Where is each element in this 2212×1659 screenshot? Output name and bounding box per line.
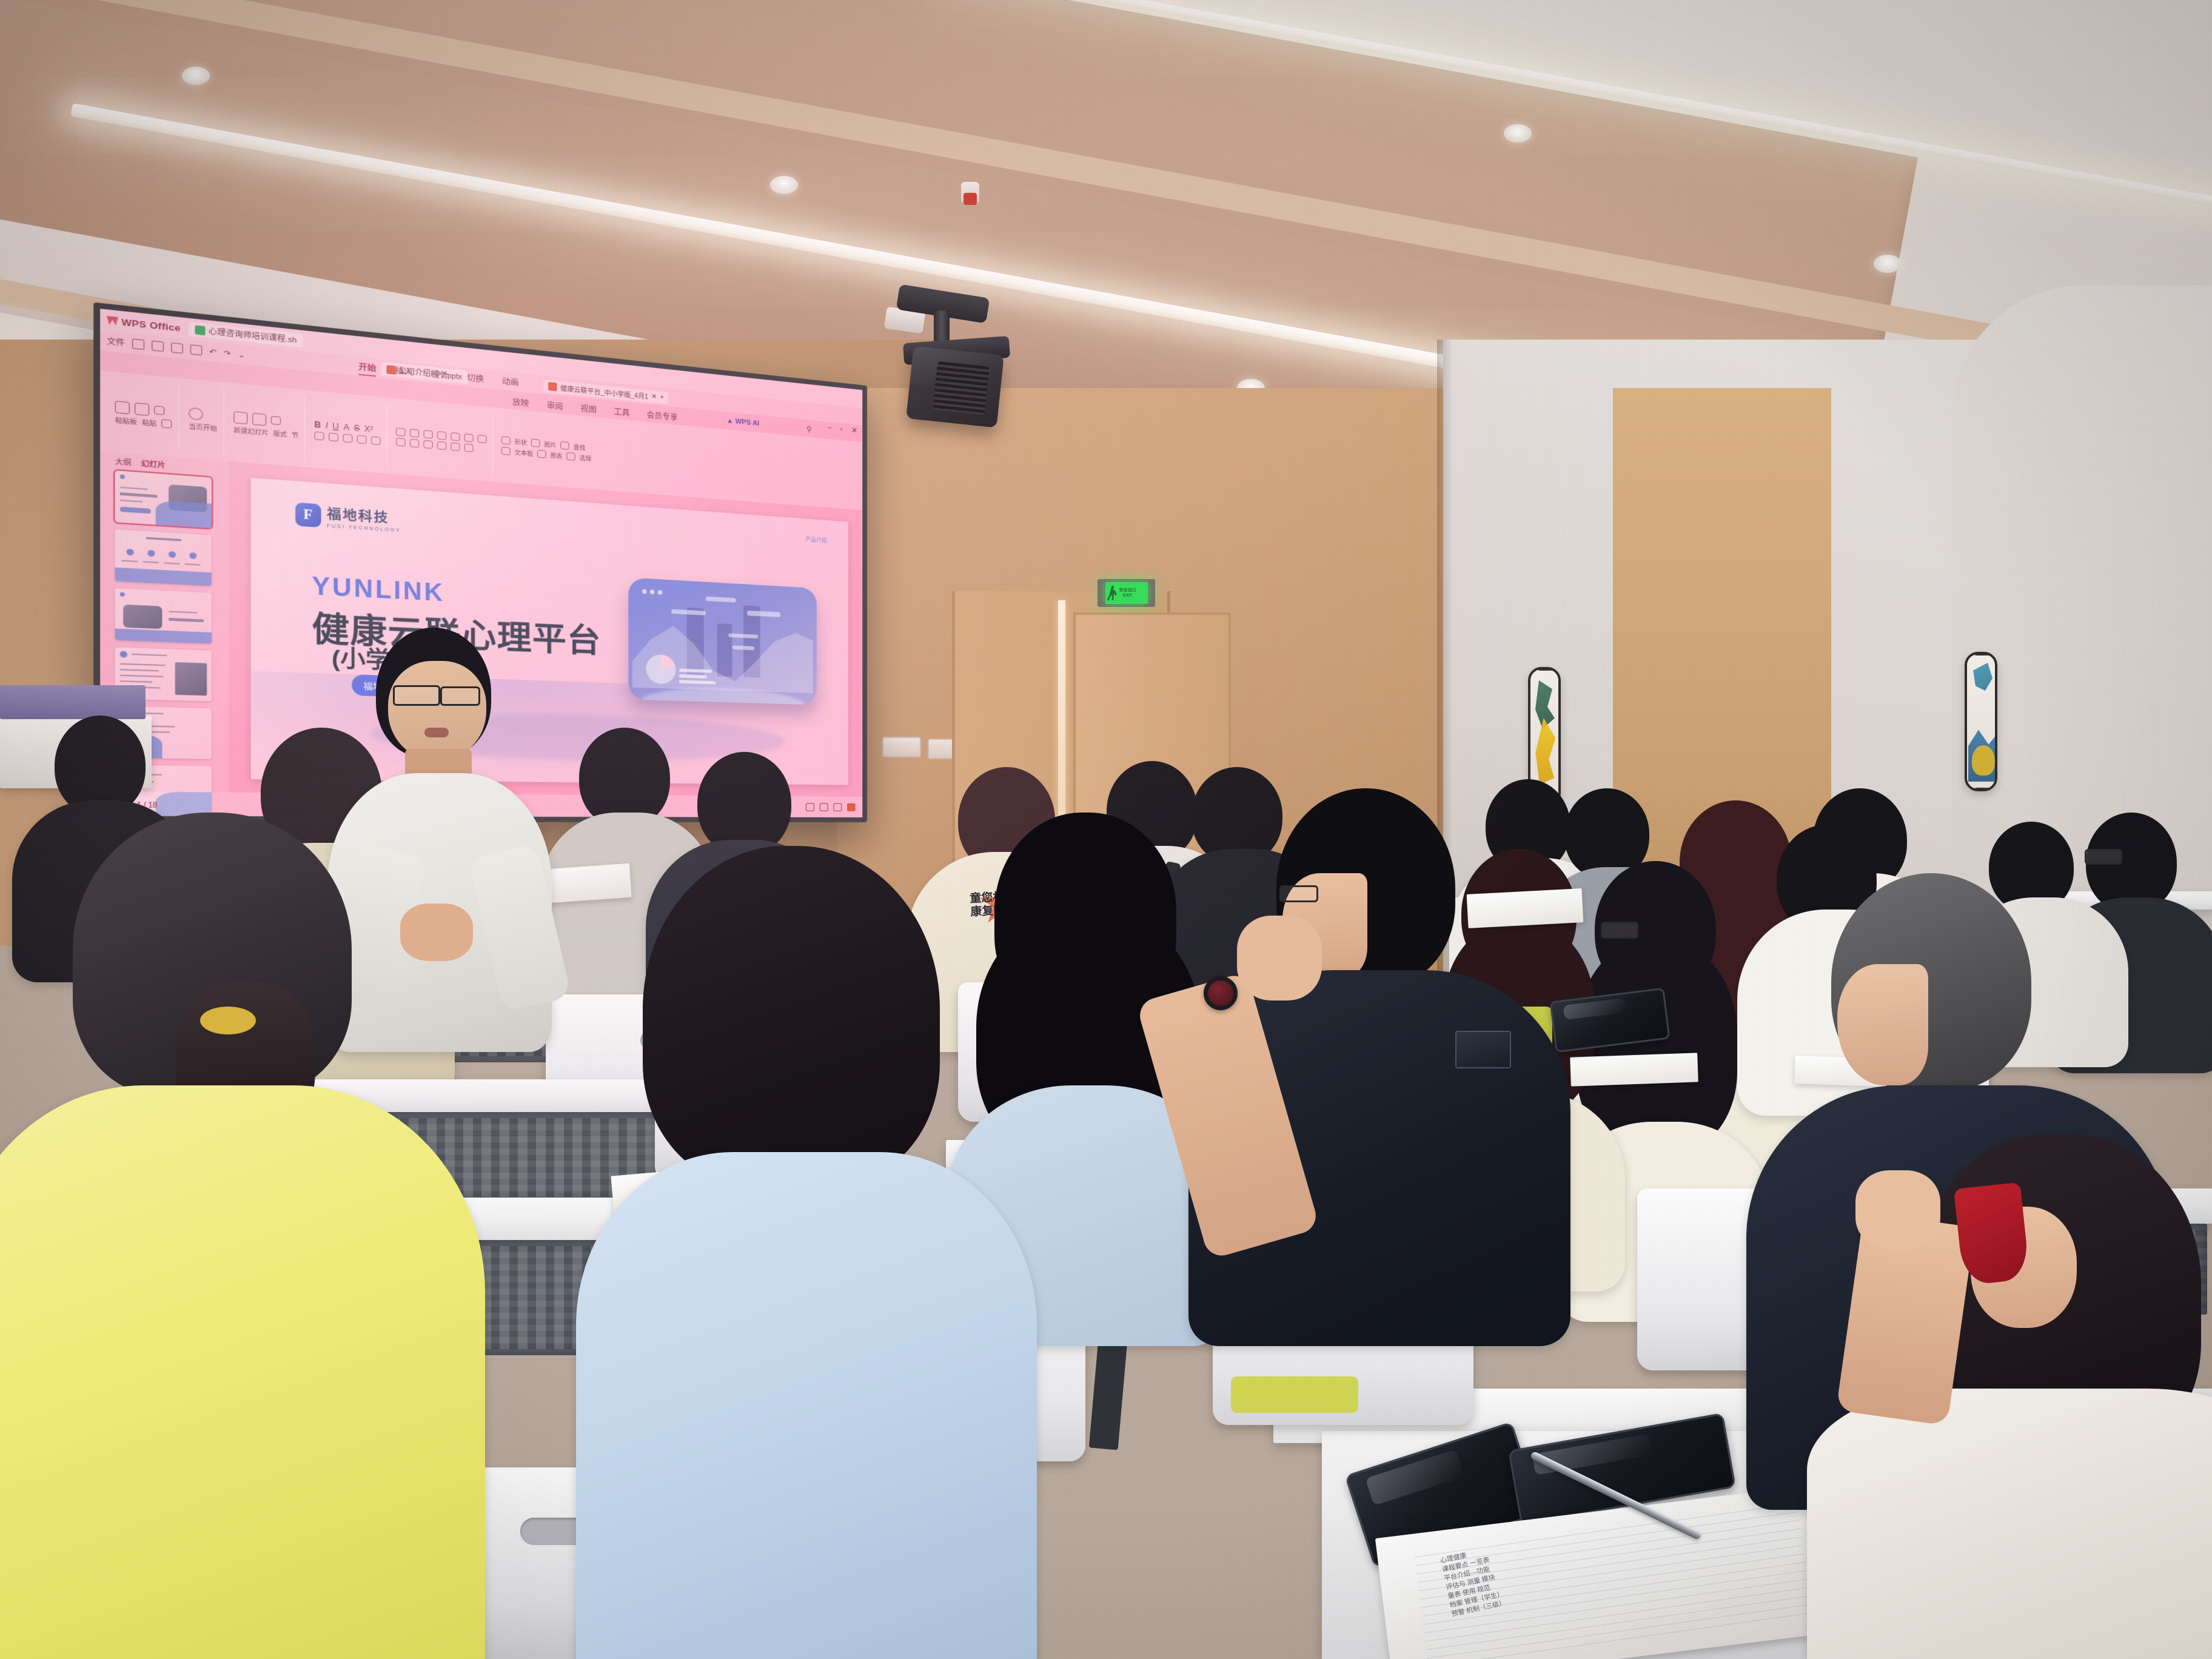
- presenter-mouth: [424, 728, 449, 737]
- normal-view-icon[interactable]: [806, 803, 814, 811]
- slide-eyebrow-text: YUNLINK: [312, 571, 444, 606]
- find-label: 查找: [573, 442, 585, 452]
- art-motif-green: [1534, 680, 1558, 729]
- presentation-icon-2: [548, 382, 557, 391]
- italic-button[interactable]: I: [326, 420, 328, 430]
- text-effects-button[interactable]: A: [343, 422, 349, 432]
- downlight-icon-6: [770, 176, 798, 194]
- increase-indent-icon[interactable]: [437, 431, 446, 440]
- minimize-button[interactable]: −: [828, 423, 832, 434]
- maximize-button[interactable]: ▫: [840, 424, 843, 435]
- art-motif-teal: [1971, 663, 1995, 702]
- ribbon-tab-animation[interactable]: 动画: [502, 375, 518, 391]
- select-label: 选择: [579, 453, 591, 463]
- ribbon-group-slideshow: 当页开始: [183, 386, 224, 454]
- panel-tab-outline[interactable]: 大纲: [115, 455, 132, 468]
- downlight-icon-1: [1504, 124, 1532, 142]
- font-color-icon[interactable]: [343, 434, 353, 443]
- wall-shelf-accent: [0, 685, 146, 719]
- align-vertical-icon[interactable]: [464, 443, 474, 452]
- new-slide-label: 新建幻灯片: [233, 425, 269, 437]
- attendee-yellow-shirt-body: [0, 1085, 485, 1659]
- cut-icon[interactable]: [154, 406, 164, 415]
- grow-font-icon[interactable]: [315, 431, 324, 440]
- ribbon-group-paragraph: [390, 404, 493, 475]
- ribbon-group-font: B I U A S X²: [309, 397, 387, 467]
- slide-brand-logo: F 福地科技 FUDI TECHNOLOGY: [295, 501, 401, 533]
- projection-screen: WPS Office 心理咨询师培训课程.sh 文件 ↶ ↷ ⌄: [93, 302, 867, 822]
- tab-close-icon[interactable]: ✕: [651, 393, 657, 400]
- hair-tie-icon: [200, 1007, 256, 1034]
- bold-button[interactable]: B: [315, 420, 321, 430]
- art-motif-gold: [1972, 745, 1995, 776]
- classroom-scene: 安全出口 EXIT WPS Office 心理咨询师培训课程.sh: [0, 0, 2212, 1659]
- smartwatch: [1204, 976, 1238, 1010]
- print-icon[interactable]: [171, 343, 183, 354]
- clipboard-label: 粘贴板: [115, 415, 137, 426]
- slide-thumbnail-1[interactable]: 1: [115, 471, 212, 528]
- decrease-indent-icon[interactable]: [424, 429, 433, 438]
- text-direction-icon[interactable]: [464, 433, 474, 441]
- wps-office-logo: WPS Office: [107, 315, 181, 333]
- presenter-glasses-left: [393, 685, 440, 706]
- slide-thumbnail-2[interactable]: 2: [115, 529, 212, 586]
- brand-name-cn: 福地科技: [327, 504, 401, 528]
- strikethrough-button[interactable]: S: [354, 423, 360, 433]
- wps-logo-icon: [107, 316, 118, 326]
- shrink-font-icon[interactable]: [329, 432, 338, 441]
- align-center-icon[interactable]: [410, 438, 420, 447]
- search-icon[interactable]: ⚲: [806, 424, 812, 434]
- legend-lines: [679, 669, 716, 685]
- panel-tab-slides[interactable]: 幻灯片: [141, 457, 166, 470]
- dashboard-illustration: [628, 578, 816, 705]
- chart-icon[interactable]: [537, 450, 546, 458]
- ribbon-group-clipboard: 粘贴板 粘贴: [109, 378, 179, 450]
- ribbon-tab-view[interactable]: 视图: [581, 403, 597, 415]
- layout-label: 版式: [273, 428, 287, 438]
- ribbon-tab-insert[interactable]: 插入: [395, 364, 413, 380]
- ribbon-tab-slideshow[interactable]: 放映: [512, 396, 529, 409]
- play-from-current-label: 当页开始: [189, 421, 217, 432]
- attendee-white-blouse-hand: [1855, 1170, 1940, 1249]
- slide-thumbnail-3[interactable]: 3: [115, 588, 212, 643]
- shapes-icon[interactable]: [501, 436, 511, 444]
- slide-sorter-icon[interactable]: [820, 803, 828, 811]
- running-man-icon: [1107, 585, 1118, 601]
- attendee-blue-shirt-body: [576, 1152, 1037, 1659]
- paste-label: 粘贴: [142, 417, 156, 427]
- redo-icon[interactable]: ↷: [224, 348, 231, 358]
- view-switcher: [806, 803, 856, 811]
- wall-art-panel-right: [1965, 652, 1997, 791]
- ribbon-tab-review[interactable]: 审阅: [547, 400, 563, 412]
- paper-stack-back[interactable]: [1467, 888, 1584, 928]
- art-motif-yellow: [1533, 718, 1560, 785]
- paste-icon[interactable]: [135, 402, 149, 415]
- wps-office-window: WPS Office 心理咨询师培训课程.sh 文件 ↶ ↷ ⌄: [100, 309, 862, 817]
- attendee-black-polo-glasses: [1279, 885, 1318, 902]
- close-button[interactable]: ✕: [851, 425, 858, 435]
- attendee-black-polo-hand: [1237, 916, 1322, 1000]
- exit-sign-panel: 安全出口 EXIT: [1105, 582, 1148, 604]
- columns-icon[interactable]: [451, 442, 460, 451]
- presenter-face: [388, 661, 486, 761]
- window-controls: − ▫ ✕: [828, 423, 858, 436]
- cloud-sync-icon[interactable]: [152, 341, 164, 352]
- spreadsheet-icon: [195, 325, 206, 335]
- presenter-hands: [400, 903, 473, 961]
- reading-view-icon[interactable]: [833, 803, 842, 811]
- exit-sign: 安全出口 EXIT: [1098, 579, 1155, 607]
- attendee-grey-crewcut-face: [1837, 964, 1928, 1085]
- chair-seat-green-b: [1231, 1376, 1358, 1413]
- align-left-icon[interactable]: [396, 437, 406, 446]
- downlight-icon-2: [1874, 255, 1902, 273]
- file-menu-button[interactable]: 文件: [107, 335, 125, 349]
- clipboard-icon[interactable]: [115, 400, 130, 414]
- ribbon-tab-transition[interactable]: 切换: [467, 372, 484, 387]
- ribbon-tab-tools[interactable]: 工具: [614, 406, 629, 419]
- print-preview-icon[interactable]: [190, 344, 203, 355]
- section-label: 节: [292, 430, 298, 440]
- paper-stack-mid[interactable]: [1570, 1053, 1698, 1086]
- downlight-icon-5: [182, 67, 210, 85]
- chart-label: 图表: [551, 451, 563, 460]
- find-icon[interactable]: [560, 441, 569, 450]
- bullets-icon[interactable]: [396, 427, 406, 437]
- polo-chest-patch: [1455, 1031, 1511, 1068]
- picture-icon[interactable]: [531, 438, 540, 447]
- new-slide-icon[interactable]: [233, 411, 247, 424]
- textbox-label: 文本框: [515, 447, 534, 458]
- ribbon-group-slides: 新建幻灯片 版式 节: [227, 390, 306, 461]
- reset-icon[interactable]: [271, 416, 281, 425]
- ribbon-tab-design[interactable]: 设计: [432, 368, 449, 384]
- play-from-current-icon[interactable]: [189, 407, 203, 420]
- line-spacing-icon[interactable]: [451, 432, 460, 441]
- undo-icon[interactable]: ↶: [209, 347, 216, 357]
- new-tab-button[interactable]: +: [660, 394, 664, 401]
- projector-vent-grill: [933, 361, 990, 415]
- wps-ai-button[interactable]: ▲ WPS AI: [726, 417, 759, 428]
- save-icon[interactable]: [132, 338, 144, 350]
- picture-label: 图片: [544, 440, 556, 449]
- justify-icon[interactable]: [437, 441, 446, 450]
- ribbon-group-drawing: 形状 图片 查找 文本框 图表 选择: [496, 414, 597, 483]
- ribbon-tab-member[interactable]: 会员专享: [647, 409, 678, 423]
- select-icon[interactable]: [566, 452, 575, 461]
- numbering-icon[interactable]: [410, 428, 420, 437]
- align-right-icon[interactable]: [424, 440, 433, 449]
- slide-corner-note: 产品介绍: [805, 535, 827, 545]
- attendee-white-blouse-body: [1807, 1389, 2212, 1659]
- shapes-label: 形状: [515, 437, 527, 447]
- presenter-glasses-right: [440, 686, 480, 706]
- wall-socket-1[interactable]: [882, 737, 921, 757]
- ribbon-tab-home[interactable]: 开始: [358, 361, 376, 377]
- format-painter-icon[interactable]: [161, 419, 172, 429]
- fudi-logo-icon: F: [295, 503, 321, 528]
- clear-format-icon[interactable]: [371, 436, 381, 445]
- smartart-icon[interactable]: [478, 434, 487, 443]
- layout-icon[interactable]: [252, 412, 266, 426]
- superscript-button[interactable]: X²: [364, 424, 374, 434]
- underline-button[interactable]: U: [332, 421, 339, 431]
- textbox-icon[interactable]: [501, 447, 511, 455]
- sprinkler-head-icon: [961, 182, 979, 203]
- exit-sign-label: 安全出口 EXIT: [1119, 588, 1136, 598]
- start-slideshow-icon[interactable]: [847, 803, 856, 811]
- window-dots-icon: [642, 589, 662, 595]
- attendee-blue-shirt-hair: [643, 846, 940, 1185]
- customize-icon[interactable]: ⌄: [238, 350, 245, 360]
- highlight-icon[interactable]: [357, 435, 367, 444]
